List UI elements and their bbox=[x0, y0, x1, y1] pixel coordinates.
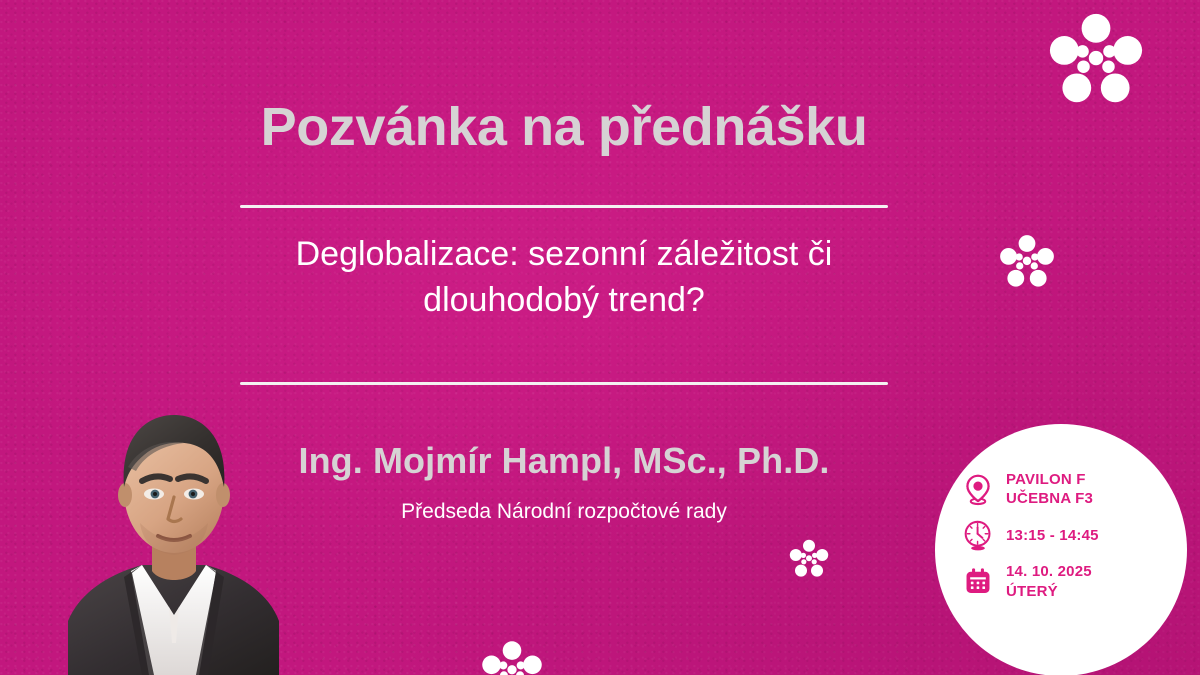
lecture-title: Deglobalizace: sezonní záležitost či dlo… bbox=[240, 232, 888, 323]
speaker-name: Ing. Mojmír Hampl, MSc., Ph.D. bbox=[240, 440, 888, 482]
flower-motif-top-right bbox=[1048, 12, 1144, 108]
flower-motif-mid-right bbox=[999, 234, 1055, 290]
event-detail-date: 14. 10. 2025 ÚTERÝ bbox=[961, 562, 1099, 600]
location-pin-icon bbox=[961, 472, 995, 506]
divider-top bbox=[240, 205, 888, 208]
event-detail-location: PAVILON F UČEBNA F3 bbox=[961, 470, 1099, 508]
event-details-list: PAVILON F UČEBNA F3 bbox=[961, 470, 1099, 601]
clock-icon bbox=[961, 518, 995, 552]
event-details-bubble: PAVILON F UČEBNA F3 bbox=[935, 424, 1187, 675]
speaker-role: Předseda Národní rozpočtové rady bbox=[240, 500, 888, 524]
lecture-invitation-poster: Pozvánka na přednášku Deglobalizace: sez… bbox=[0, 0, 1200, 675]
event-detail-time: 13:15 - 14:45 bbox=[961, 518, 1099, 552]
page-title: Pozvánka na přednášku bbox=[240, 98, 888, 156]
calendar-icon bbox=[961, 565, 995, 599]
event-time-text: 13:15 - 14:45 bbox=[1006, 526, 1099, 545]
divider-bottom bbox=[240, 382, 888, 385]
event-date-text: 14. 10. 2025 ÚTERÝ bbox=[1006, 562, 1092, 600]
event-location-text: PAVILON F UČEBNA F3 bbox=[1006, 470, 1093, 508]
poster-content-column: Pozvánka na přednášku Deglobalizace: sez… bbox=[240, 0, 888, 675]
